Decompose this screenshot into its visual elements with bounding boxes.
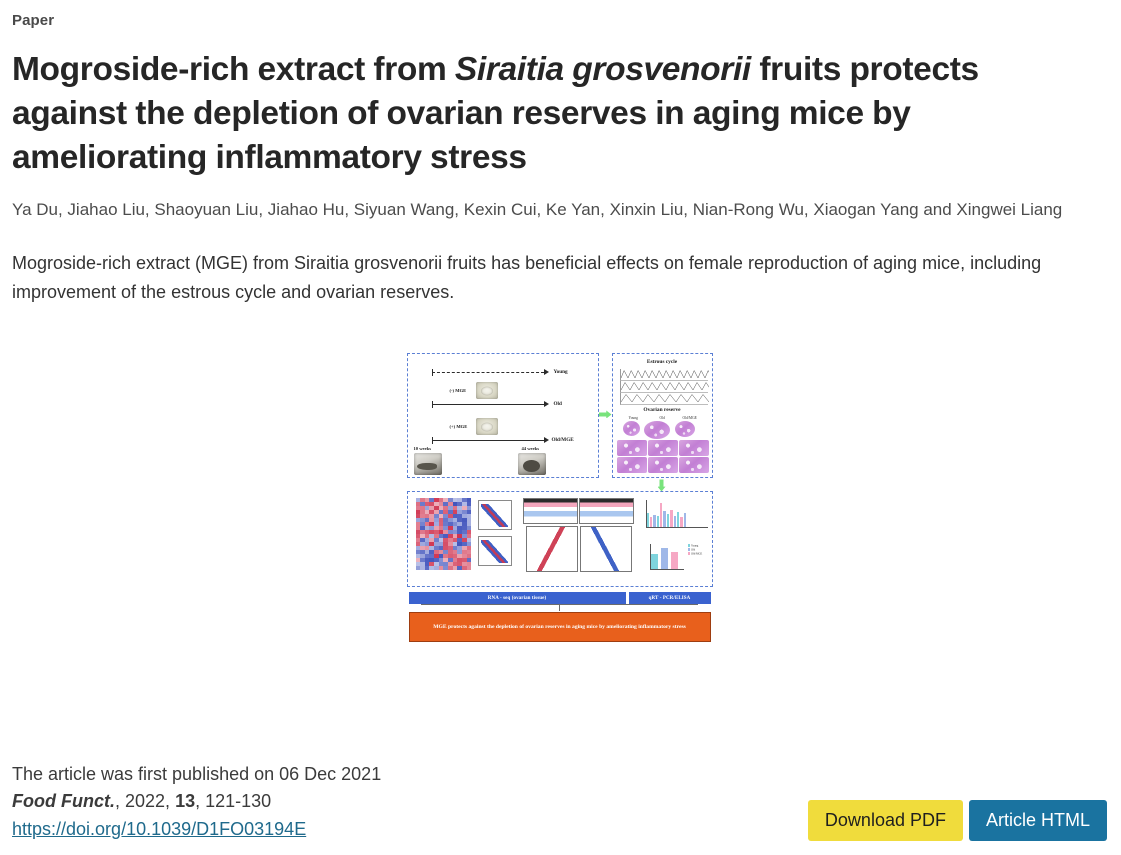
gsea-heatmap-left	[523, 498, 578, 524]
timeline-old-mge-line	[432, 440, 544, 441]
citation-sep-2: ,	[165, 791, 175, 811]
bar	[663, 511, 665, 527]
abstract-text: Mogroside-rich extract (MGE) from Sirait…	[12, 249, 1104, 307]
timeline-old-mge-start-cap	[432, 437, 433, 444]
page-range: 121-130	[205, 791, 271, 811]
gsea-enrichment-curve-left	[526, 526, 578, 572]
publication-year: 2022	[125, 791, 165, 811]
start-age-label: 10 weeks	[414, 446, 431, 451]
treatment-plus-mge-label: (+) MGE	[450, 424, 468, 429]
correlation-scatter-plot	[478, 536, 512, 566]
right-arrow-icon	[599, 410, 612, 418]
graphical-abstract-image[interactable]: Young Old (-) MGE Old/MGE	[407, 353, 713, 643]
expression-heatmap	[416, 498, 472, 570]
end-age-label: 44 weeks	[522, 446, 539, 451]
scatter-points	[481, 504, 508, 528]
qrt-pcr-bar-chart	[646, 500, 708, 528]
download-pdf-button[interactable]: Download PDF	[808, 800, 963, 841]
estrous-trace-row	[620, 369, 708, 381]
young-mouse-photo	[414, 453, 442, 475]
article-landing-page: Paper Mogroside-rich extract from Sirait…	[0, 0, 1121, 855]
ovary-section-image	[679, 440, 709, 456]
timeline-old-line	[432, 404, 544, 405]
article-type-kicker: Paper	[12, 12, 1107, 30]
ovary-section-row	[617, 440, 709, 456]
reserve-column-label-old-mge: Old/MGE	[683, 416, 697, 420]
monk-fruit-icon-plus	[476, 418, 498, 435]
ovary-image	[675, 421, 695, 437]
bar	[660, 503, 662, 528]
bar	[677, 512, 679, 528]
timeline-old-mge-arrowhead	[544, 437, 549, 443]
phenotype-panel: Estrous cycle Ovarian reserve Young Old …	[612, 353, 713, 478]
published-date-line: The article was first published on 06 De…	[12, 761, 1107, 788]
estrous-trace-line	[621, 381, 709, 392]
title-species-name: Siraitia grosvenorii	[455, 51, 751, 88]
estrous-trace-line	[621, 369, 709, 380]
ovary-whole-mount-row	[623, 421, 695, 439]
citation-sep-3: ,	[195, 791, 205, 811]
timeline-old-mge-label: Old/MGE	[552, 437, 574, 443]
estrous-trace-row	[620, 381, 708, 393]
timeline-old-label: Old	[554, 401, 562, 407]
reserve-column-label-young: Young	[629, 416, 638, 420]
article-html-button[interactable]: Article HTML	[969, 800, 1107, 841]
bar	[671, 552, 678, 570]
bar-chart-legend: Young Old Old/MGE	[688, 544, 703, 556]
gsea-heatmap-right	[579, 498, 634, 524]
title-text-part1: Mogroside-rich extract from	[12, 51, 455, 88]
down-arrow-icon	[658, 479, 666, 491]
journal-name: Food Funct.	[12, 791, 115, 811]
scatter-points	[481, 540, 508, 564]
ovary-section-image	[679, 457, 709, 473]
ovary-section-image	[617, 457, 647, 473]
ovarian-reserve-heading: Ovarian reserve	[613, 407, 712, 413]
legend-entry: Old/MGE	[688, 552, 703, 556]
heatmap-cell	[467, 566, 472, 570]
timeline-young-start-cap	[432, 369, 433, 376]
study-design-panel: Young Old (-) MGE Old/MGE	[407, 353, 599, 478]
estrous-trace-row	[620, 393, 708, 405]
bar	[647, 513, 649, 528]
action-button-row: Download PDF Article HTML	[808, 800, 1107, 841]
bar	[651, 554, 658, 570]
bar	[661, 548, 668, 570]
bar	[684, 513, 686, 527]
timeline-old-start-cap	[432, 401, 433, 408]
bar	[667, 514, 669, 528]
reserve-column-label-old: Old	[660, 416, 665, 420]
method-bar-qrt-pcr: qRT - PCR/ELISA	[629, 592, 711, 604]
ovary-image	[623, 421, 640, 436]
bar	[680, 517, 682, 528]
ovary-section-row	[617, 457, 709, 473]
gsea-enrichment-curve-right	[580, 526, 632, 572]
old-mouse-photo	[518, 453, 546, 475]
author-list: Ya Du, Jiahao Liu, Shaoyuan Liu, Jiahao …	[12, 196, 1072, 224]
conclusion-banner: MGE protects against the depletion of ov…	[409, 612, 711, 642]
citation-sep-1: ,	[115, 791, 125, 811]
ovary-section-image	[648, 440, 678, 456]
bar	[670, 510, 672, 528]
timeline-young-label: Young	[554, 369, 568, 375]
ovary-image	[644, 421, 670, 439]
elisa-bar-chart	[650, 544, 684, 570]
estrous-trace-line	[621, 393, 709, 404]
bar	[674, 516, 676, 528]
monk-fruit-icon-minus	[476, 382, 498, 399]
omics-results-panel: Young Old Old/MGE	[407, 491, 713, 587]
estrous-cycle-traces	[620, 369, 708, 403]
bar	[650, 517, 652, 527]
connector-line-vertical	[559, 604, 560, 611]
timeline-young-line	[432, 372, 544, 373]
treatment-minus-mge-label: (-) MGE	[450, 388, 467, 393]
ovary-section-image	[617, 440, 647, 456]
graphical-abstract-container: Young Old (-) MGE Old/MGE	[12, 353, 1107, 643]
estrous-cycle-heading: Estrous cycle	[613, 359, 712, 365]
page-title: Mogroside-rich extract from Siraitia gro…	[12, 48, 1097, 180]
volume-number: 13	[175, 791, 195, 811]
method-bar-rna-seq: RNA - seq (ovarian tissue)	[409, 592, 626, 604]
doi-link[interactable]: https://doi.org/10.1039/D1FO03194E	[12, 816, 306, 843]
ovary-section-image	[648, 457, 678, 473]
bar	[653, 515, 655, 528]
timeline-young-arrowhead	[544, 369, 549, 375]
timeline-old-arrowhead	[544, 401, 549, 407]
bar	[657, 516, 659, 527]
article-footer: The article was first published on 06 De…	[12, 761, 1107, 843]
correlation-scatter-plot	[478, 500, 512, 530]
